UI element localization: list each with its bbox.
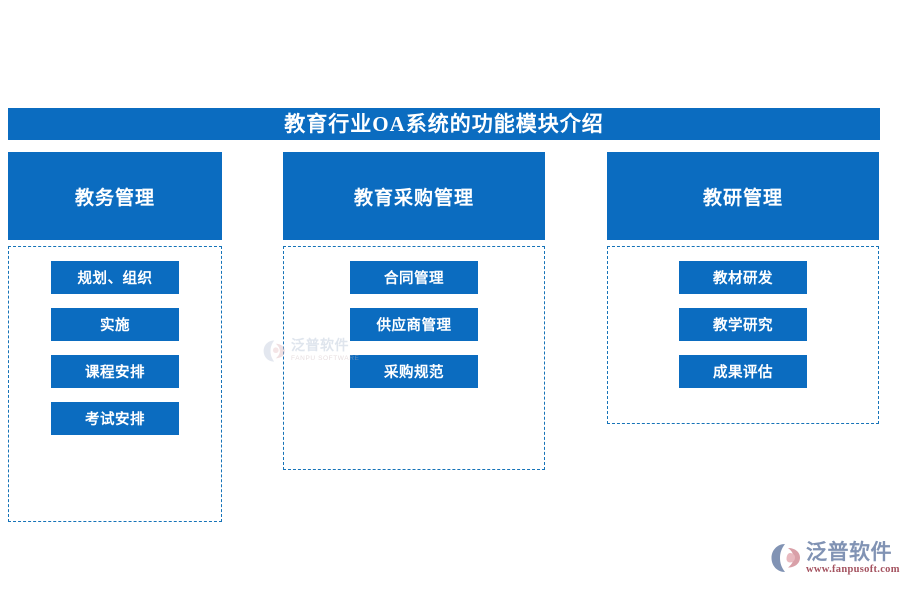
- column-items-container-jiaoyan: 教材研发 教学研究 成果评估: [607, 246, 879, 424]
- fanpu-logo-mark-icon: [770, 542, 804, 574]
- module-item[interactable]: 实施: [51, 308, 179, 341]
- slide-title-banner: 教育行业OA系统的功能模块介绍: [8, 108, 880, 140]
- module-item[interactable]: 采购规范: [350, 355, 478, 388]
- module-item-label: 成果评估: [713, 361, 773, 382]
- module-item[interactable]: 教学研究: [679, 308, 807, 341]
- module-item[interactable]: 考试安排: [51, 402, 179, 435]
- module-item[interactable]: 教材研发: [679, 261, 807, 294]
- module-item[interactable]: 课程安排: [51, 355, 179, 388]
- brand-logo-text-group: 泛普软件 www.fanpusoft.com: [806, 541, 900, 577]
- module-item[interactable]: 规划、组织: [51, 261, 179, 294]
- module-item-label: 教学研究: [713, 314, 773, 335]
- module-item-label: 合同管理: [384, 267, 444, 288]
- column-header-label: 教研管理: [703, 183, 783, 210]
- module-item-label: 供应商管理: [377, 314, 452, 335]
- column-header-label: 教务管理: [75, 183, 155, 210]
- column-items-container-caigou: 合同管理 供应商管理 采购规范: [283, 246, 545, 470]
- column-header-caigou: 教育采购管理: [283, 152, 545, 240]
- slide-canvas: 教育行业OA系统的功能模块介绍 教务管理 规划、组织 实施 课程安排 考试安排 …: [0, 0, 900, 600]
- module-item-label: 课程安排: [85, 361, 145, 382]
- brand-name: 泛普软件: [806, 541, 900, 563]
- module-item[interactable]: 成果评估: [679, 355, 807, 388]
- module-item[interactable]: 供应商管理: [350, 308, 478, 341]
- page-title: 教育行业OA系统的功能模块介绍: [284, 114, 604, 135]
- module-column-jiaowu: 教务管理 规划、组织 实施 课程安排 考试安排: [8, 152, 222, 522]
- column-header-label: 教育采购管理: [354, 183, 474, 210]
- module-item-label: 实施: [100, 314, 130, 335]
- module-column-jiaoyan: 教研管理 教材研发 教学研究 成果评估: [607, 152, 879, 424]
- column-header-jiaowu: 教务管理: [8, 152, 222, 240]
- module-item[interactable]: 合同管理: [350, 261, 478, 294]
- brand-url: www.fanpusoft.com: [806, 564, 900, 577]
- module-column-caigou: 教育采购管理 合同管理 供应商管理 采购规范: [283, 152, 545, 470]
- column-items-container-jiaowu: 规划、组织 实施 课程安排 考试安排: [8, 246, 222, 522]
- module-item-label: 考试安排: [85, 408, 145, 429]
- module-item-label: 规划、组织: [78, 267, 153, 288]
- brand-logo: 泛普软件 www.fanpusoft.com: [770, 541, 890, 587]
- module-item-label: 采购规范: [384, 361, 444, 382]
- column-header-jiaoyan: 教研管理: [607, 152, 879, 240]
- module-item-label: 教材研发: [713, 267, 773, 288]
